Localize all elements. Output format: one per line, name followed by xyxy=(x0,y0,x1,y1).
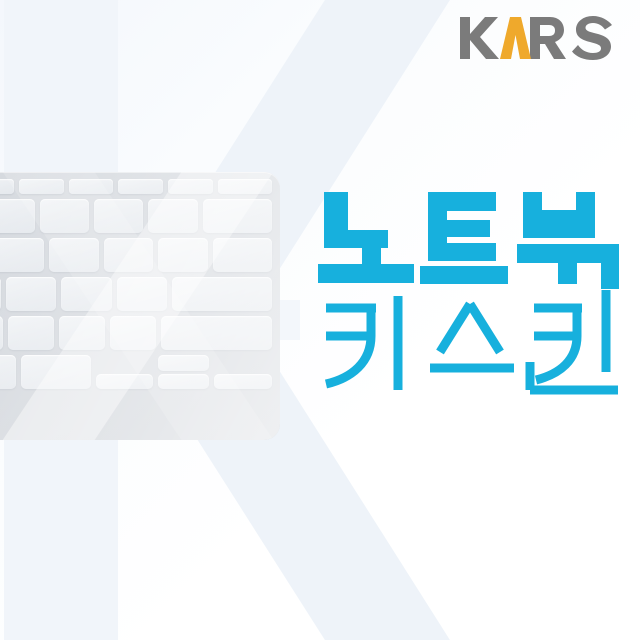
keyboard-row-home xyxy=(0,277,272,311)
key xyxy=(61,277,111,311)
key-shift-right xyxy=(161,316,272,350)
key xyxy=(0,238,44,272)
keyboard-keys-area xyxy=(0,172,280,440)
key xyxy=(158,238,207,272)
keyboard-row-top-letters xyxy=(0,238,272,272)
headline-line-1 xyxy=(318,186,624,292)
karas-logo-wordmark xyxy=(458,15,614,61)
key xyxy=(213,238,272,272)
key xyxy=(218,179,272,194)
key xyxy=(49,238,98,272)
key xyxy=(0,316,3,350)
key xyxy=(118,179,163,194)
key xyxy=(148,199,197,233)
key xyxy=(203,199,272,233)
key xyxy=(110,316,156,350)
key-space xyxy=(96,374,154,390)
key xyxy=(168,179,213,194)
arrow-key-cluster xyxy=(158,355,209,389)
key xyxy=(40,199,89,233)
headline-line-2 xyxy=(318,290,624,398)
key-arrow-down xyxy=(158,374,209,390)
product-banner: KARAS 노트북 키스킨 K laptop-keyboard xyxy=(0,0,640,640)
key xyxy=(59,316,105,350)
key xyxy=(104,238,153,272)
key xyxy=(0,277,1,311)
key xyxy=(69,179,114,194)
key xyxy=(117,277,167,311)
key xyxy=(0,179,14,194)
key-arrow-up xyxy=(158,355,209,371)
key-alt xyxy=(21,355,90,389)
keyboard-row-bottom-letters xyxy=(0,316,272,350)
keyboard-row-number xyxy=(0,199,272,233)
karas-logo xyxy=(458,16,614,60)
key xyxy=(94,199,143,233)
key-enter xyxy=(172,277,272,311)
key xyxy=(0,199,35,233)
keyboard-row-modifiers xyxy=(0,355,272,389)
key xyxy=(8,316,54,350)
key-fn xyxy=(0,355,16,389)
key-arrow-right xyxy=(214,374,272,390)
headline-group xyxy=(318,186,624,398)
keyboard-row-function xyxy=(0,179,272,194)
key xyxy=(19,179,64,194)
laptop-keyboard xyxy=(0,172,280,440)
key xyxy=(6,277,56,311)
